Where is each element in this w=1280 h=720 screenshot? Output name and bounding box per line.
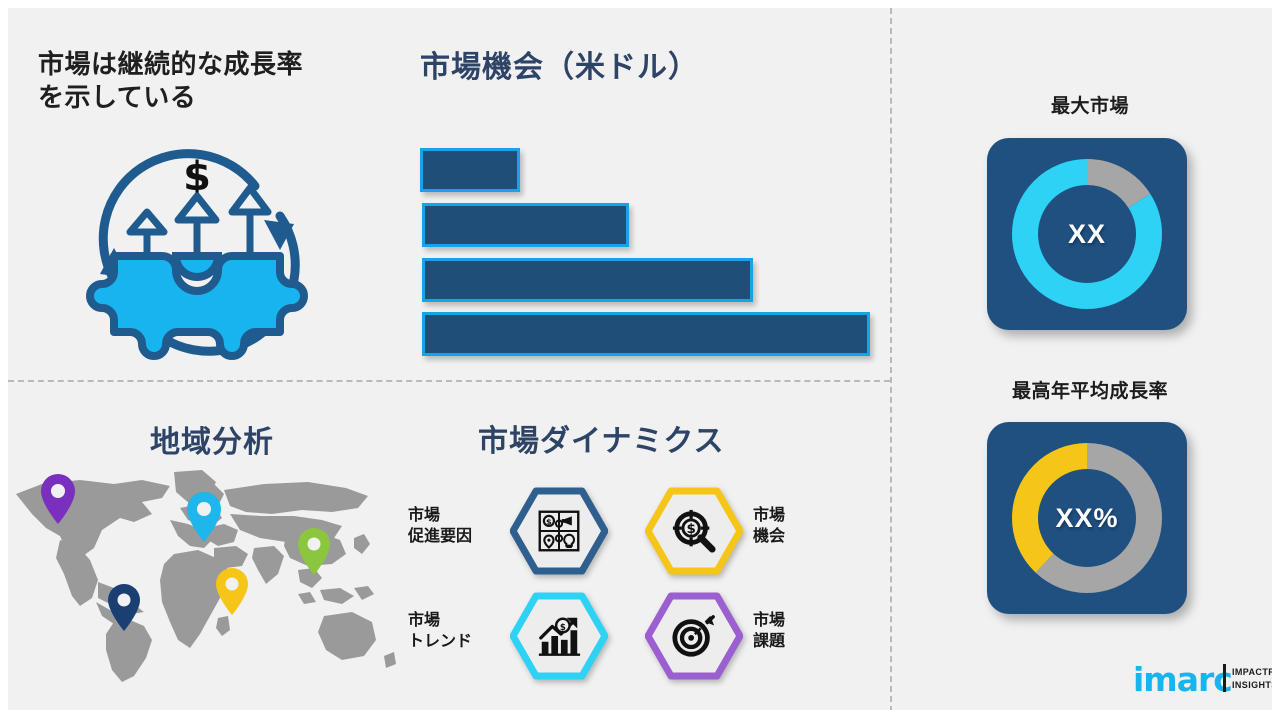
market-opportunity-bar-chart — [415, 145, 885, 355]
svg-text:$: $ — [686, 522, 695, 537]
dynamics-item-opportunities[interactable]: $ 市場 機会 — [645, 487, 845, 575]
growth-cycle-gear-icon: $ — [72, 128, 322, 368]
dynamics-section-title: 市場ダイナミクス — [478, 424, 725, 460]
frame-edge-left — [0, 0, 8, 720]
puzzle-market-drivers-icon: $ — [510, 487, 608, 575]
svg-text:$: $ — [546, 517, 552, 527]
dynamics-hex-challenges[interactable] — [645, 592, 743, 680]
dynamics-item-trends[interactable]: 市場 トレンド $ — [408, 592, 608, 680]
infographic-slide: 市場は継続的な成長率 を示している $ 市場機会（米ドル） 地域分析 — [0, 0, 1280, 720]
logo-wordmark: imarc — [1133, 660, 1232, 699]
pin-africa — [216, 568, 248, 615]
dynamics-item-drivers[interactable]: 市場 促進要因 $ — [408, 487, 608, 575]
dynamics-hex-drivers[interactable]: $ — [510, 487, 608, 575]
vertical-divider — [890, 8, 892, 712]
frame-edge-right — [1272, 0, 1280, 720]
dynamics-label-opportunities: 市場 機会 — [753, 505, 845, 547]
world-map — [2, 462, 402, 687]
dynamics-label-trends: 市場 トレンド — [408, 610, 500, 652]
largest-market-donut-card: XX — [987, 138, 1187, 330]
regional-section-title: 地域分析 — [150, 425, 274, 461]
frame-edge-bottom — [0, 710, 1280, 720]
highest-cagr-title: 最高年平均成長率 — [960, 380, 1220, 404]
highest-cagr-value: XX% — [987, 422, 1187, 614]
svg-text:$: $ — [560, 623, 566, 633]
logo-divider — [1223, 664, 1226, 692]
largest-market-value: XX — [987, 138, 1187, 330]
dynamics-label-drivers: 市場 促進要因 — [408, 505, 500, 547]
dynamics-hex-trends[interactable]: $ — [510, 592, 608, 680]
dynamics-label-challenges: 市場 課題 — [753, 610, 845, 652]
dynamics-hex-opportunities[interactable]: $ — [645, 487, 743, 575]
frame-edge-top — [0, 0, 1280, 8]
horizontal-divider — [8, 380, 890, 382]
growth-section-title: 市場は継続的な成長率 を示している — [38, 48, 388, 115]
pin-east-asia — [298, 528, 330, 575]
bar-4 — [422, 312, 870, 356]
magnifier-dollar-target-icon: $ — [645, 487, 743, 575]
imarc-logo: imarc IMPACTFUL INSIGHTS — [1133, 658, 1273, 702]
bar-1 — [420, 148, 520, 192]
target-dartboard-arrow-icon — [645, 592, 743, 680]
opportunity-section-title: 市場機会（米ドル） — [420, 50, 880, 86]
highest-cagr-donut-card: XX% — [987, 422, 1187, 614]
dynamics-item-challenges[interactable]: 市場 課題 — [645, 592, 845, 680]
largest-market-title: 最大市場 — [960, 95, 1220, 119]
growth-bar-chart-arrow-icon: $ — [510, 592, 608, 680]
bar-2 — [422, 203, 629, 247]
bar-3 — [422, 258, 753, 302]
